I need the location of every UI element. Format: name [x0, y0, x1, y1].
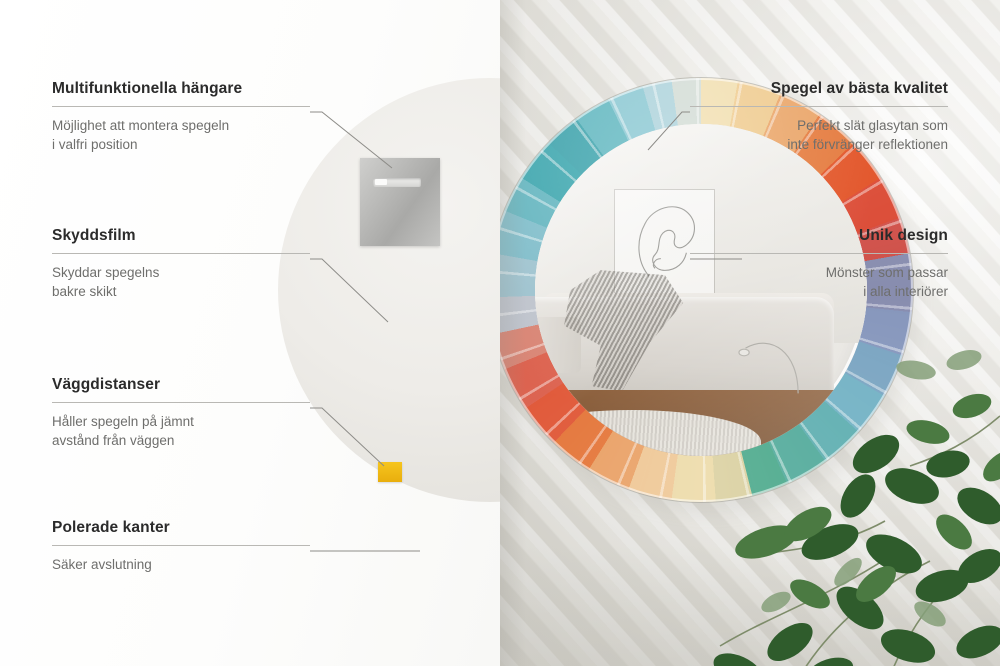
- callout-rule: [52, 253, 310, 254]
- callout-title: Spegel av bästa kvalitet: [690, 80, 948, 98]
- callout-desc: Säker avslutning: [52, 555, 310, 574]
- callout-desc: Möjlighet att montera spegeln i valfri p…: [52, 116, 310, 154]
- callout-rule: [52, 545, 310, 546]
- callout-desc: Perfekt slät glasytan som inte förvränge…: [690, 116, 948, 154]
- callout-spegel-av-basta-kvalitet: Spegel av bästa kvalitet Perfekt slät gl…: [690, 80, 948, 154]
- callout-title: Skyddsfilm: [52, 227, 310, 245]
- callout-multifunktionella-hangare: Multifunktionella hängare Möjlighet att …: [52, 80, 310, 154]
- callout-vaggdistanser: Väggdistanser Håller spegeln på jämnt av…: [52, 376, 310, 450]
- infographic-canvas: Multifunktionella hängare Möjlighet att …: [0, 0, 1000, 666]
- callout-title: Väggdistanser: [52, 376, 310, 394]
- callout-rule: [690, 253, 948, 254]
- product-silhouette-disc: [278, 78, 500, 502]
- callout-desc: Håller spegeln på jämnt avstånd från väg…: [52, 412, 310, 450]
- callout-title: Multifunktionella hängare: [52, 80, 310, 98]
- callout-skyddsfilm: Skyddsfilm Skyddar spegelns bakre skikt: [52, 227, 310, 301]
- callout-desc: Mönster som passar i alla interiörer: [690, 263, 948, 301]
- callout-desc: Skyddar spegelns bakre skikt: [52, 263, 310, 301]
- wall-spacer-block: [378, 462, 402, 482]
- hanger-plate: [360, 158, 440, 246]
- callout-unik-design: Unik design Mönster som passar i alla in…: [690, 227, 948, 301]
- callout-title: Unik design: [690, 227, 948, 245]
- callout-rule: [52, 106, 310, 107]
- callout-title: Polerade kanter: [52, 519, 310, 537]
- hanger-plate-slot: [373, 178, 421, 187]
- callout-polerade-kanter: Polerade kanter Säker avslutning: [52, 519, 310, 574]
- callout-rule: [690, 106, 948, 107]
- panel-edge-shadow: [500, 0, 526, 666]
- callout-rule: [52, 402, 310, 403]
- foliage-decoration: [680, 346, 1000, 666]
